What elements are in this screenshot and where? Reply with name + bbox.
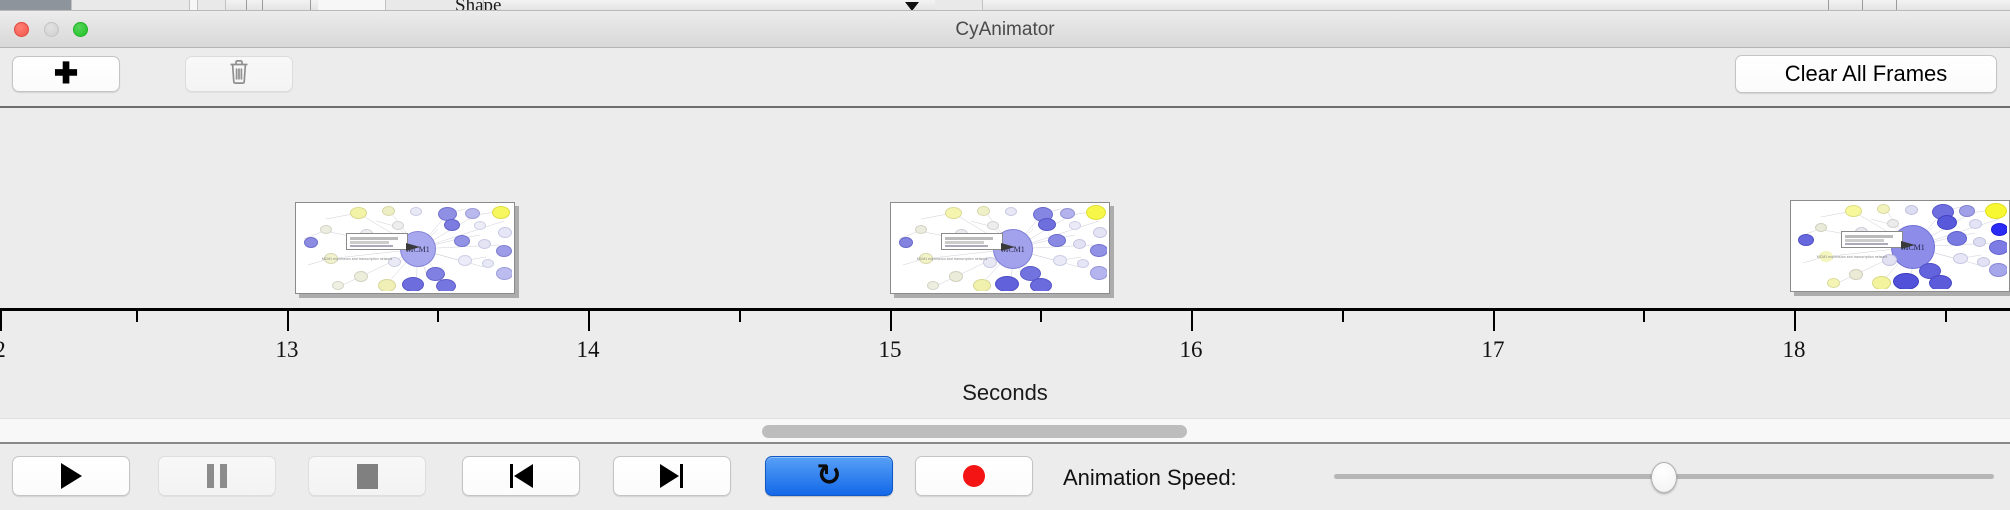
axis-tick-label: 16 <box>1161 337 1221 363</box>
node <box>474 221 486 230</box>
node <box>1048 234 1066 247</box>
skip-to-start-button[interactable] <box>462 456 580 496</box>
skip-to-end-icon <box>659 463 685 489</box>
node <box>1985 203 2007 219</box>
node <box>899 237 913 248</box>
background-window-strip: Shape <box>0 0 2010 11</box>
node <box>949 271 963 282</box>
callout-tail-icon <box>1001 243 1015 251</box>
axis-tick-label: 18 <box>1764 337 1824 363</box>
loop-icon: ↻ <box>816 461 841 491</box>
node <box>304 237 318 248</box>
node <box>1929 275 1952 289</box>
node <box>1989 240 2007 255</box>
node <box>1849 269 1863 280</box>
loop-button[interactable]: ↻ <box>765 456 893 496</box>
axis-tick-minor <box>1342 311 1344 322</box>
axis-tick-major <box>0 311 2 331</box>
node <box>1005 207 1017 216</box>
node <box>1086 205 1106 220</box>
axis-tick-minor <box>1040 311 1042 322</box>
network-preview: MCM1 <box>1793 203 2007 289</box>
node <box>1887 219 1899 228</box>
node-tooltip-callout <box>1841 231 1903 248</box>
record-button[interactable] <box>915 456 1033 496</box>
delete-frame-button[interactable] <box>185 56 293 92</box>
frame-caption: MCM1 expression and transcription networ… <box>1817 255 1887 259</box>
axis-tick-minor <box>1643 311 1645 322</box>
clear-all-frames-button[interactable]: Clear All Frames <box>1735 55 1997 93</box>
node <box>350 207 367 219</box>
bg-chip <box>0 0 72 11</box>
toolbar: ✚ Clear All Frames <box>0 48 2010 108</box>
node <box>454 235 470 247</box>
node <box>478 239 491 249</box>
node <box>1969 219 1982 229</box>
node <box>1053 255 1067 266</box>
bg-tick-icon <box>310 0 311 11</box>
axis-tick-major <box>588 311 590 331</box>
node <box>977 206 990 216</box>
node <box>1827 278 1840 288</box>
bg-notch-icon <box>905 2 919 11</box>
playback-bar: ↻ Animation Speed: <box>0 446 2010 510</box>
node <box>354 271 368 282</box>
bg-tick-icon <box>1828 0 1829 11</box>
bg-chip <box>72 0 190 11</box>
node <box>915 225 927 234</box>
node <box>458 255 472 266</box>
network-preview: MCM1 <box>298 205 512 291</box>
node <box>1905 205 1918 215</box>
node <box>1991 223 2007 236</box>
node <box>1893 273 1919 289</box>
bg-chip <box>198 0 226 11</box>
node <box>1989 263 2007 277</box>
callout-tail-icon <box>406 243 420 251</box>
axis-tick-label: 14 <box>558 337 618 363</box>
node-tooltip-callout <box>941 233 1003 250</box>
node <box>496 245 512 257</box>
node <box>945 207 962 219</box>
bg-tick-icon <box>1862 0 1863 11</box>
frame-thumbnail[interactable]: MCM1 <box>890 202 1110 294</box>
node <box>1977 257 1990 267</box>
minimize-icon[interactable] <box>44 22 59 37</box>
axis-title: Seconds <box>0 380 2010 406</box>
bg-tick-icon <box>246 0 247 11</box>
node <box>492 206 510 219</box>
node <box>1069 221 1081 230</box>
node <box>444 219 460 231</box>
node <box>436 279 456 291</box>
bg-chip <box>935 0 983 11</box>
node <box>402 277 424 291</box>
bg-tick-icon <box>1896 0 1897 11</box>
maximize-icon[interactable] <box>73 22 88 37</box>
node <box>973 279 991 291</box>
node <box>1093 227 1107 238</box>
axis-tick-label: 17 <box>1463 337 1523 363</box>
node <box>1959 205 1975 217</box>
node <box>1090 244 1107 257</box>
axis-tick-minor <box>136 311 138 322</box>
node <box>1090 266 1107 280</box>
axis-tick-label: 15 <box>860 337 920 363</box>
axis-tick-minor <box>739 311 741 322</box>
node <box>987 221 999 230</box>
node <box>995 276 1019 291</box>
axis-tick-minor <box>437 311 439 322</box>
axis-tick-major <box>1794 311 1796 331</box>
pause-button[interactable] <box>158 456 276 496</box>
bg-chip <box>318 0 386 11</box>
node <box>1030 278 1052 291</box>
node <box>378 279 396 291</box>
page-title: CyAnimator <box>0 11 2010 48</box>
close-icon[interactable] <box>14 22 29 37</box>
timeline-axis <box>0 308 2010 311</box>
node <box>1953 253 1968 264</box>
bg-window-text: Shape <box>455 0 501 11</box>
skip-to-end-button[interactable] <box>613 456 731 496</box>
title-bar: CyAnimator <box>0 11 2010 48</box>
node <box>482 259 494 268</box>
add-frame-button[interactable]: ✚ <box>12 56 120 92</box>
node <box>498 227 512 238</box>
play-button[interactable] <box>12 456 130 496</box>
animation-speed-slider[interactable] <box>1334 456 1994 496</box>
node <box>1060 208 1075 219</box>
bg-chip <box>190 0 198 11</box>
axis-tick-major <box>287 311 289 331</box>
node <box>392 221 404 230</box>
node <box>410 207 422 216</box>
node <box>1077 259 1089 268</box>
node <box>1947 231 1967 246</box>
node <box>1073 239 1086 249</box>
node <box>1937 215 1957 230</box>
bg-tick-icon <box>262 0 263 11</box>
record-icon <box>963 465 985 487</box>
axis-tick-minor <box>1945 311 1947 322</box>
node <box>320 225 332 234</box>
frame-thumbnail[interactable]: MCM1 <box>295 202 515 294</box>
network-preview: MCM1 <box>893 205 1107 291</box>
node <box>1038 218 1056 231</box>
node <box>496 267 512 280</box>
node <box>1798 234 1814 246</box>
horizontal-scrollbar[interactable] <box>0 418 2010 444</box>
play-icon <box>61 463 82 489</box>
scrollbar-thumb[interactable] <box>762 425 1187 438</box>
node <box>1877 204 1890 214</box>
animation-speed-label: Animation Speed: <box>1063 465 1237 491</box>
axis-tick-major <box>1493 311 1495 331</box>
timeline-panel[interactable]: MCM1 <box>0 110 2010 310</box>
node <box>1872 276 1891 289</box>
stop-icon <box>357 464 378 489</box>
axis-tick-major <box>1191 311 1193 331</box>
slider-thumb[interactable] <box>1651 462 1677 493</box>
node <box>1845 205 1862 217</box>
node <box>332 281 344 290</box>
pause-icon <box>207 464 227 488</box>
node <box>382 206 395 216</box>
plus-icon: ✚ <box>54 60 78 89</box>
axis-tick-major <box>890 311 892 331</box>
node <box>1973 237 1986 247</box>
axis-tick-label: 2 <box>0 337 30 363</box>
axis-tick-label: 13 <box>257 337 317 363</box>
stop-button[interactable] <box>308 456 426 496</box>
frame-caption: MCM1 expression and transcription networ… <box>917 257 987 261</box>
node <box>465 208 480 219</box>
skip-to-start-icon <box>508 463 534 489</box>
trash-icon <box>227 58 251 90</box>
node <box>927 281 939 290</box>
node-tooltip-callout <box>346 233 408 250</box>
node <box>1815 223 1827 232</box>
callout-tail-icon <box>1901 241 1915 249</box>
frame-thumbnail[interactable]: MCM1 <box>1790 200 2010 292</box>
frame-caption: MCM1 expression and transcription networ… <box>322 257 392 261</box>
